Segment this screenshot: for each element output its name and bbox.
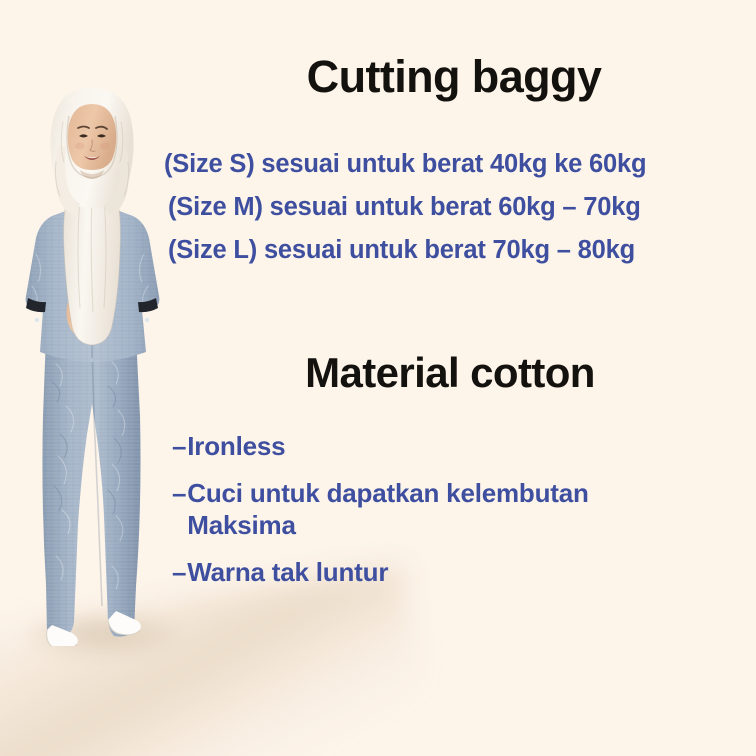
feature-list: – Ironless – Cuci untuk dapatkan kelembu… (172, 430, 732, 603)
feature-item-colorfast: – Warna tak luntur (172, 556, 732, 588)
page-title: Cutting baggy (164, 52, 744, 102)
size-guide-list: (Size S) sesuai untuk berat 40kg ke 60kg… (162, 143, 748, 272)
size-line-m: (Size M) sesuai untuk berat 60kg – 70kg (168, 186, 748, 229)
feature-item-ironless: – Ironless (172, 430, 732, 462)
size-line-s: (Size S) sesuai untuk berat 40kg ke 60kg (164, 143, 748, 186)
feature-label: Warna tak luntur (187, 556, 692, 588)
size-line-l: (Size L) sesuai untuk berat 70kg – 80kg (168, 229, 748, 272)
feature-item-wash: – Cuci untuk dapatkan kelembutan Maksima (172, 477, 732, 541)
dash-bullet-icon: – (172, 477, 186, 509)
material-heading: Material cotton (150, 350, 750, 396)
poster-canvas: Cutting baggy (Size S) sesuai untuk bera… (0, 0, 756, 756)
dash-bullet-icon: – (172, 556, 186, 588)
feature-label: Cuci untuk dapatkan kelembutan Maksima (187, 477, 692, 541)
feature-label: Ironless (187, 430, 692, 462)
dash-bullet-icon: – (172, 430, 186, 462)
text-content: Cutting baggy (Size S) sesuai untuk bera… (0, 0, 756, 756)
